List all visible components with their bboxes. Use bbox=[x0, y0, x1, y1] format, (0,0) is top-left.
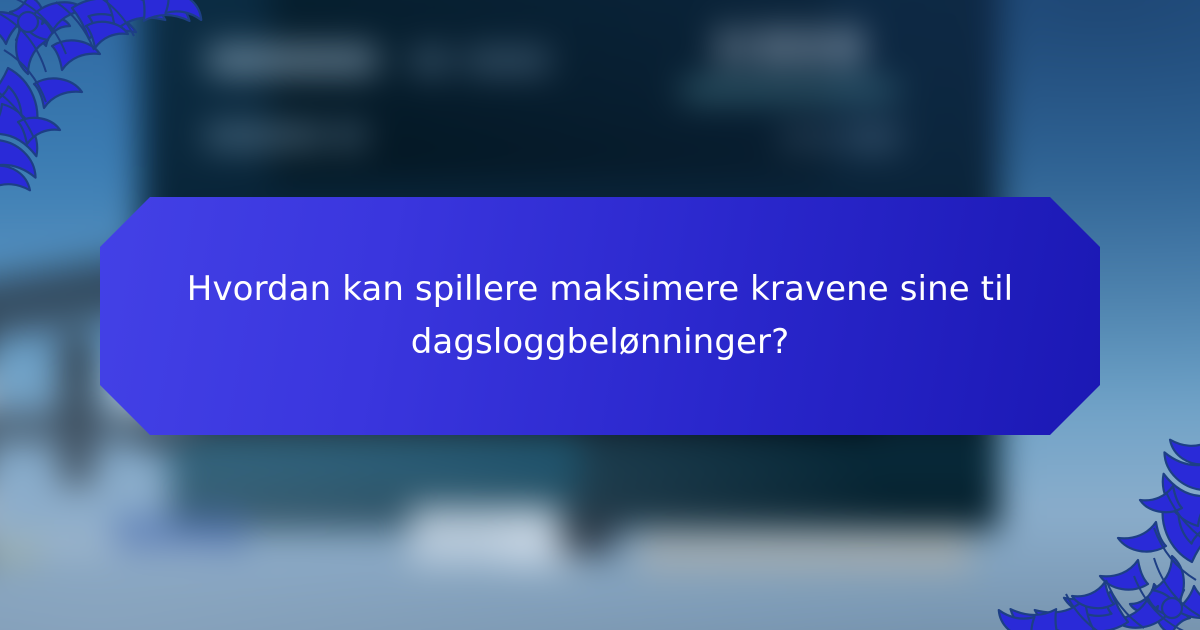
share-card: Hvordan kan spillere maksimere kravene s… bbox=[0, 0, 1200, 630]
headline-banner: Hvordan kan spillere maksimere kravene s… bbox=[100, 197, 1100, 435]
headline-text: Hvordan kan spillere maksimere kravene s… bbox=[115, 263, 1085, 368]
